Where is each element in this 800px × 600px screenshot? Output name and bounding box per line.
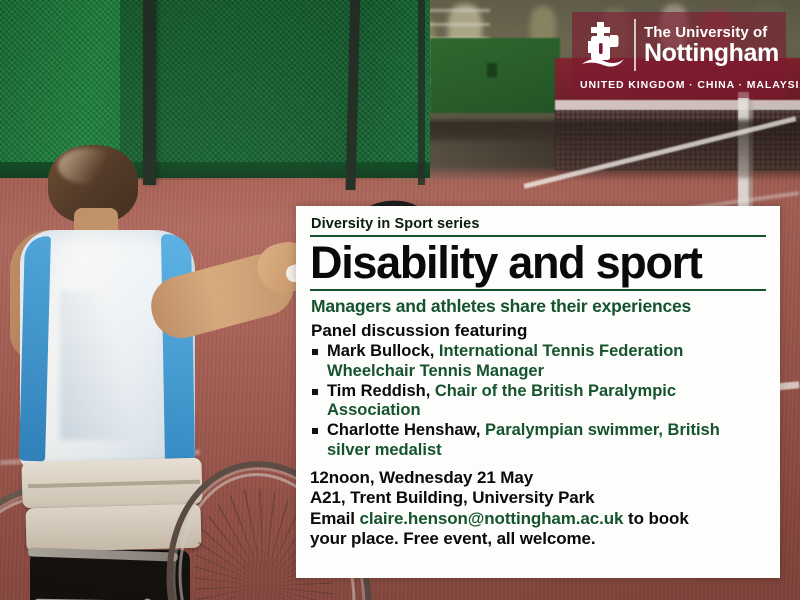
- panellist-list: Mark Bullock, International Tennis Feder…: [310, 342, 766, 460]
- list-item: Tim Reddish, Chair of the British Paraly…: [310, 382, 766, 421]
- nottingham-crest-icon: [580, 19, 626, 71]
- panellist-name: Charlotte Henshaw,: [327, 421, 480, 439]
- event-booking-line: Email claire.henson@nottingham.ac.uk to …: [310, 509, 766, 529]
- event-subtitle: Managers and athletes share their experi…: [311, 296, 766, 316]
- event-venue: A21, Trent Building, University Park: [310, 488, 766, 508]
- contact-email-link[interactable]: claire.henson@nottingham.ac.uk: [359, 509, 623, 528]
- list-item: Charlotte Henshaw, Paralympian swimmer, …: [310, 421, 766, 460]
- event-details: 12noon, Wednesday 21 May A21, Trent Buil…: [310, 468, 766, 550]
- rule-bottom: [310, 289, 766, 291]
- poster-root: The University of Nottingham UNITED KING…: [0, 0, 800, 600]
- wheelchair-tennis-player: [0, 130, 330, 600]
- panel-discussion-lead: Panel discussion featuring: [311, 321, 766, 341]
- hoarding-mark: [487, 63, 497, 77]
- event-closing-line: your place. Free event, all welcome.: [310, 529, 766, 549]
- university-logo: The University of Nottingham UNITED KING…: [572, 12, 786, 98]
- series-kicker: Diversity in Sport series: [311, 216, 766, 232]
- logo-wordmark: The University of Nottingham: [644, 25, 779, 66]
- tennis-net-white-band: [555, 100, 800, 110]
- list-item: Mark Bullock, International Tennis Feder…: [310, 342, 766, 381]
- fence-post: [418, 0, 425, 185]
- panellist-name: Mark Bullock,: [327, 342, 434, 360]
- logo-line-nottingham: Nottingham: [644, 41, 779, 66]
- logo-line-the-university-of: The University of: [644, 25, 779, 40]
- email-prefix-text: Email: [310, 509, 359, 528]
- logo-lockup: The University of Nottingham: [580, 16, 778, 74]
- logo-campuses: UNITED KINGDOM · CHINA · MALAYSIA: [580, 79, 778, 91]
- logo-divider: [634, 19, 636, 71]
- player-hair-highlight: [58, 148, 116, 184]
- email-suffix-text: to book: [623, 509, 688, 528]
- panellist-name: Tim Reddish,: [327, 382, 430, 400]
- event-time: 12noon, Wednesday 21 May: [310, 468, 766, 488]
- page-title: Disability and sport: [310, 239, 766, 287]
- event-info-panel: Diversity in Sport series Disability and…: [296, 206, 780, 578]
